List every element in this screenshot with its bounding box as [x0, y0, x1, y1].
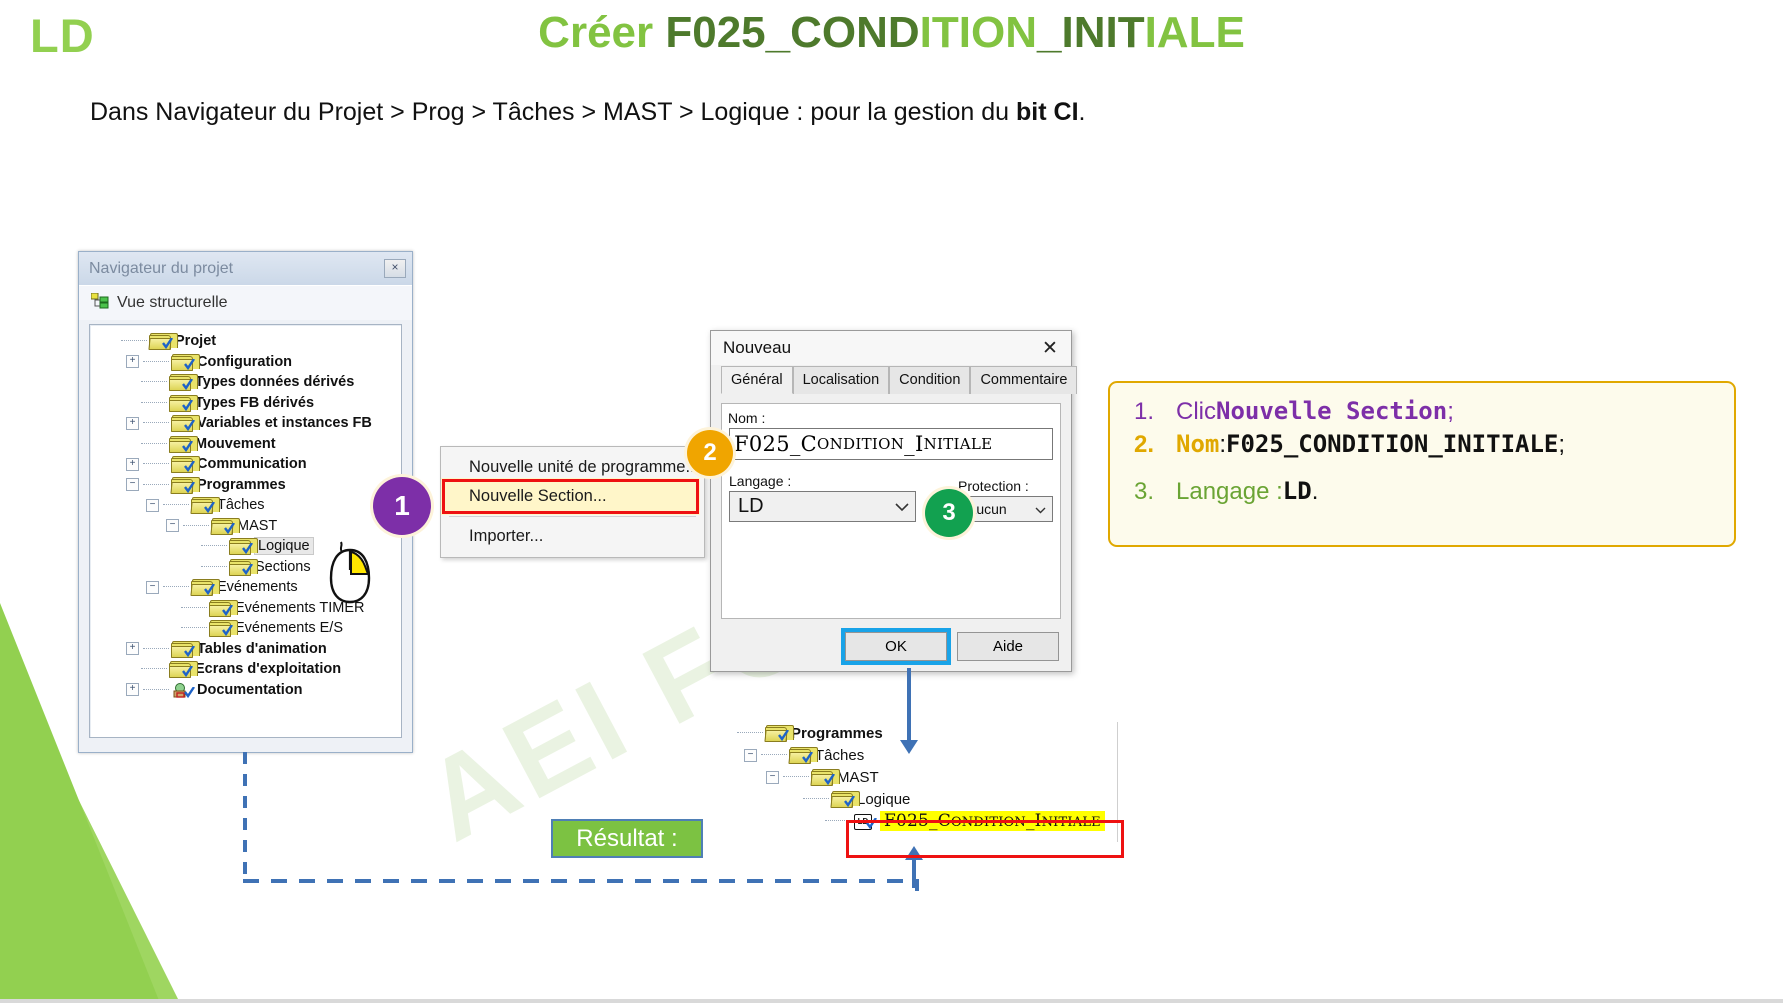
instruction-1-strong: Nouvelle Section: [1216, 397, 1447, 425]
tree-item-label: Tâches: [815, 747, 864, 764]
protection-label: Protection :: [958, 478, 1053, 494]
tree-guide-line: [181, 627, 207, 629]
menu-item-nouvelle-unite[interactable]: Nouvelle unité de programme...: [441, 453, 704, 482]
result-tree: Programmes−Tâches−MASTLogiqueLDF025_COND…: [712, 722, 1105, 832]
title-part-3: _INIT: [1037, 8, 1145, 57]
aide-button[interactable]: Aide: [957, 632, 1059, 661]
tree-item-label: Logique: [255, 538, 313, 554]
tree-item[interactable]: Programmes: [712, 722, 1105, 744]
result-badge: Résultat :: [551, 819, 703, 858]
menu-item-nouvelle-section[interactable]: Nouvelle Section...: [445, 482, 696, 511]
tree-guide-line: [163, 504, 189, 506]
instruction-2-post: ;: [1558, 431, 1565, 459]
tree-item[interactable]: +Tables d'animation: [96, 639, 401, 660]
tree-guide-line: [141, 381, 167, 383]
protection-value: Aucun: [967, 501, 1007, 517]
tree-item-label: Tâches: [217, 497, 265, 513]
tree-item[interactable]: +Configuration: [96, 352, 401, 373]
tree-expander-minus[interactable]: −: [766, 771, 779, 784]
tree-guide-line: [783, 776, 809, 778]
tree-expander-minus[interactable]: −: [146, 499, 159, 512]
dialog-title-label: Nouveau: [723, 338, 791, 358]
folder-icon: [171, 477, 192, 493]
tree-item[interactable]: +Documentation: [96, 680, 401, 701]
folder-icon: [169, 436, 190, 452]
tree-expander-minus[interactable]: −: [146, 581, 159, 594]
tree-item-label: Types données dérivés: [195, 374, 354, 390]
tree-item-label: Documentation: [197, 682, 303, 698]
dialog-close-icon[interactable]: ✕: [1033, 334, 1067, 362]
dashed-connector-horizontal: [243, 879, 919, 883]
langage-group: Langage : LD: [729, 467, 916, 522]
tree-guide-line: [141, 402, 167, 404]
nom-value-head: F025_C: [734, 432, 817, 456]
instruction-3-pre: Langage :: [1176, 478, 1283, 506]
folder-icon: [209, 620, 230, 636]
tree-expander-blank: [126, 664, 137, 675]
tree-guide-line: [201, 566, 227, 568]
tree-item[interactable]: −MAST: [712, 766, 1105, 788]
folder-icon: [169, 374, 190, 390]
tree-item-label: Mouvement: [195, 436, 276, 452]
tree-expander-blank: [126, 397, 137, 408]
tree-expander-plus[interactable]: +: [126, 355, 139, 368]
navigator-tree-panel: Projet+ConfigurationTypes données dérivé…: [89, 324, 402, 738]
tree-expander-blank: [788, 794, 799, 805]
title-part-4: IALE: [1145, 8, 1245, 57]
folder-icon: [811, 769, 832, 785]
tree-item-label: MAST: [837, 769, 879, 786]
tree-expander-blank: [126, 438, 137, 449]
nom-value-small2: NITIALE: [924, 435, 993, 453]
folder-icon: [171, 641, 192, 657]
tree-item[interactable]: −Tâches: [96, 495, 401, 516]
tree-guide-line: [143, 463, 169, 465]
page-title: Créer F025_CONDITION_INITIALE: [0, 10, 1783, 56]
tree-expander-blank: [186, 541, 197, 552]
tree-expander-plus[interactable]: +: [126, 642, 139, 655]
tree-item-label: Programmes: [791, 725, 883, 742]
tree-item-label: Evénements: [217, 579, 298, 595]
subtitle-bold: bit CI: [1016, 98, 1079, 126]
tree-guide-line: [121, 340, 147, 342]
tree-item[interactable]: Projet: [96, 331, 401, 352]
tree-expander-blank: [126, 377, 137, 388]
tree-guide-line: [201, 545, 227, 547]
tree-guide-line: [181, 607, 207, 609]
nom-value-small1: ONDITION: [817, 435, 904, 453]
tab-condition[interactable]: Condition: [889, 366, 970, 394]
dialog-buttons: OK Aide: [711, 621, 1071, 671]
chevron-down-icon-2: [1034, 501, 1047, 517]
tree-guide-line: [141, 443, 167, 445]
folder-icon: [169, 395, 190, 411]
instruction-line-1: 1. Clic Nouvelle Section ;: [1134, 397, 1734, 426]
nom-label: Nom :: [728, 410, 1060, 426]
subtitle-post: .: [1079, 98, 1086, 126]
step-badge-3: 3: [925, 489, 973, 537]
instruction-1-pre: Clic: [1176, 398, 1216, 426]
dialog-titlebar: Nouveau ✕: [711, 331, 1071, 365]
subtitle: Dans Navigateur du Projet > Prog > Tâche…: [90, 98, 1085, 127]
dashed-connector-stub: [915, 879, 919, 891]
tree-item-label: Programmes: [197, 477, 286, 493]
instruction-2-strong: F025_CONDITION_INITIALE: [1226, 430, 1558, 458]
instruction-spacer: [1110, 463, 1734, 477]
menu-item-importer[interactable]: Importer...: [441, 522, 704, 551]
menu-separator: [449, 516, 696, 517]
tree-item[interactable]: −Programmes: [96, 475, 401, 496]
tree-item[interactable]: Logique: [712, 788, 1105, 810]
tree-guide-line: [737, 732, 763, 734]
folder-icon: [209, 600, 230, 616]
context-menu: Nouvelle unité de programme... Nouvelle …: [440, 446, 705, 558]
instruction-2-pre: Nom: [1176, 430, 1219, 458]
tree-guide-line: [803, 798, 829, 800]
folder-icon: [169, 661, 190, 677]
instruction-2-sep: :: [1219, 431, 1226, 459]
tree-expander-blank: [810, 816, 821, 827]
mouse-cursor-icon: [327, 540, 373, 604]
folder-icon: [171, 415, 192, 431]
title-part-0: Créer: [538, 8, 665, 57]
project-navigator-window: Navigateur du projet × Vue structurelle …: [78, 251, 413, 753]
tab-commentaire[interactable]: Commentaire: [970, 366, 1077, 394]
nouveau-dialog: Nouveau ✕ Général Localisation Condition…: [710, 330, 1072, 672]
result-highlight-box: [846, 820, 1124, 858]
folder-icon: [171, 354, 192, 370]
tree-expander-blank: [186, 561, 197, 572]
tab-general[interactable]: Général: [721, 366, 793, 394]
tree-expander-plus[interactable]: +: [126, 683, 139, 696]
bottom-divider: [0, 999, 1783, 1003]
close-icon[interactable]: ×: [384, 259, 406, 278]
folder-icon: [229, 538, 250, 554]
langage-label: Langage :: [729, 473, 916, 489]
folder-icon: [789, 747, 810, 763]
tree-expander-minus[interactable]: −: [166, 519, 179, 532]
tree-item[interactable]: −MAST: [96, 516, 401, 537]
tree-item-label: Ecrans d'exploitation: [195, 661, 341, 677]
folder-icon: [191, 579, 212, 595]
instructions-card: 1. Clic Nouvelle Section ; 2. Nom : F025…: [1108, 381, 1736, 547]
tree-item-label: Evénements E/S: [235, 620, 343, 636]
tree-guide-line: [761, 754, 787, 756]
title-part-2: ITION: [920, 8, 1037, 57]
tree-expander-plus[interactable]: +: [126, 417, 139, 430]
tree-item[interactable]: Mouvement: [96, 434, 401, 455]
tree-guide-line: [143, 484, 169, 486]
title-part-1: F025_COND: [665, 8, 919, 57]
step-badge-1: 1: [373, 477, 431, 535]
tree-item[interactable]: −Tâches: [712, 744, 1105, 766]
folder-icon: [831, 791, 852, 807]
tree-guide-line: [143, 648, 169, 650]
structural-view-icon: [91, 293, 109, 314]
instruction-num-3: 3.: [1134, 478, 1176, 506]
structural-view-bar[interactable]: Vue structurelle: [79, 285, 412, 320]
instruction-line-3: 3. Langage : LD.: [1134, 477, 1734, 506]
dashed-connector-vertical: [243, 752, 247, 882]
tree-expander-minus[interactable]: −: [126, 478, 139, 491]
langage-protection-row: Langage : LD Protection : Aucun: [722, 467, 1060, 522]
instruction-num-1: 1.: [1134, 398, 1176, 426]
folder-icon: [149, 333, 170, 349]
tree-guide-line: [143, 422, 169, 424]
tree-item-label: Tables d'animation: [197, 641, 327, 657]
instruction-1-post: ;: [1447, 398, 1454, 426]
navigator-titlebar: Navigateur du projet ×: [79, 252, 412, 285]
langage-select[interactable]: LD: [729, 491, 916, 522]
navigator-tree: Projet+ConfigurationTypes données dérivé…: [90, 325, 401, 700]
langage-value: LD: [738, 495, 764, 518]
tree-item[interactable]: +Communication: [96, 454, 401, 475]
folder-icon: [765, 725, 786, 741]
tree-item-label: MAST: [237, 518, 277, 534]
tree-expander-blank: [166, 623, 177, 634]
folder-icon: [171, 456, 192, 472]
instruction-3-strong: LD: [1283, 477, 1312, 505]
tree-expander-blank: [106, 336, 117, 347]
tree-item[interactable]: Types FB dérivés: [96, 393, 401, 414]
tree-item-label: Configuration: [197, 354, 292, 370]
navigator-title-label: Navigateur du projet: [89, 260, 233, 278]
tree-guide-line: [141, 668, 167, 670]
tree-guide-line: [183, 525, 209, 527]
folder-icon: [229, 559, 250, 575]
tree-expander-minus[interactable]: −: [744, 749, 757, 762]
tree-item[interactable]: Evénements E/S: [96, 618, 401, 639]
tree-item-label: Sections: [255, 559, 311, 575]
tree-item[interactable]: Types données dérivés: [96, 372, 401, 393]
dialog-tabs: Général Localisation Condition Commentai…: [711, 366, 1071, 394]
instruction-line-2: 2. Nom : F025_CONDITION_INITIALE ;: [1134, 430, 1734, 459]
folder-icon: [211, 518, 232, 534]
ok-button[interactable]: OK: [845, 632, 947, 661]
document-icon: [171, 682, 192, 698]
nom-value-mid: _I: [904, 432, 923, 456]
dialog-general-panel: Nom : F025_CONDITION_INITIALE Langage : …: [721, 403, 1061, 619]
chevron-down-icon: [894, 495, 910, 518]
tree-item-label: Variables et instances FB: [197, 415, 372, 431]
tree-item[interactable]: +Variables et instances FB: [96, 413, 401, 434]
tree-guide-line: [163, 586, 189, 588]
tree-expander-blank: [722, 728, 733, 739]
folder-icon: [191, 497, 212, 513]
tree-expander-blank: [166, 602, 177, 613]
nom-input[interactable]: F025_CONDITION_INITIALE: [729, 428, 1053, 460]
tree-item-label: Projet: [175, 333, 216, 349]
instruction-3-post: .: [1312, 478, 1319, 506]
instruction-num-2: 2.: [1134, 431, 1176, 459]
tree-guide-line: [143, 361, 169, 363]
tree-item[interactable]: Ecrans d'exploitation: [96, 659, 401, 680]
tree-item-label: Logique: [857, 791, 910, 808]
tab-localisation[interactable]: Localisation: [793, 366, 890, 394]
tree-guide-line: [143, 689, 169, 691]
structural-view-label: Vue structurelle: [117, 294, 228, 312]
subtitle-pre: Dans Navigateur du Projet > Prog > Tâche…: [90, 98, 1016, 126]
tree-item-label: Communication: [197, 456, 307, 472]
tree-item-label: Types FB dérivés: [195, 395, 314, 411]
tree-expander-plus[interactable]: +: [126, 458, 139, 471]
step-badge-2: 2: [687, 430, 733, 476]
